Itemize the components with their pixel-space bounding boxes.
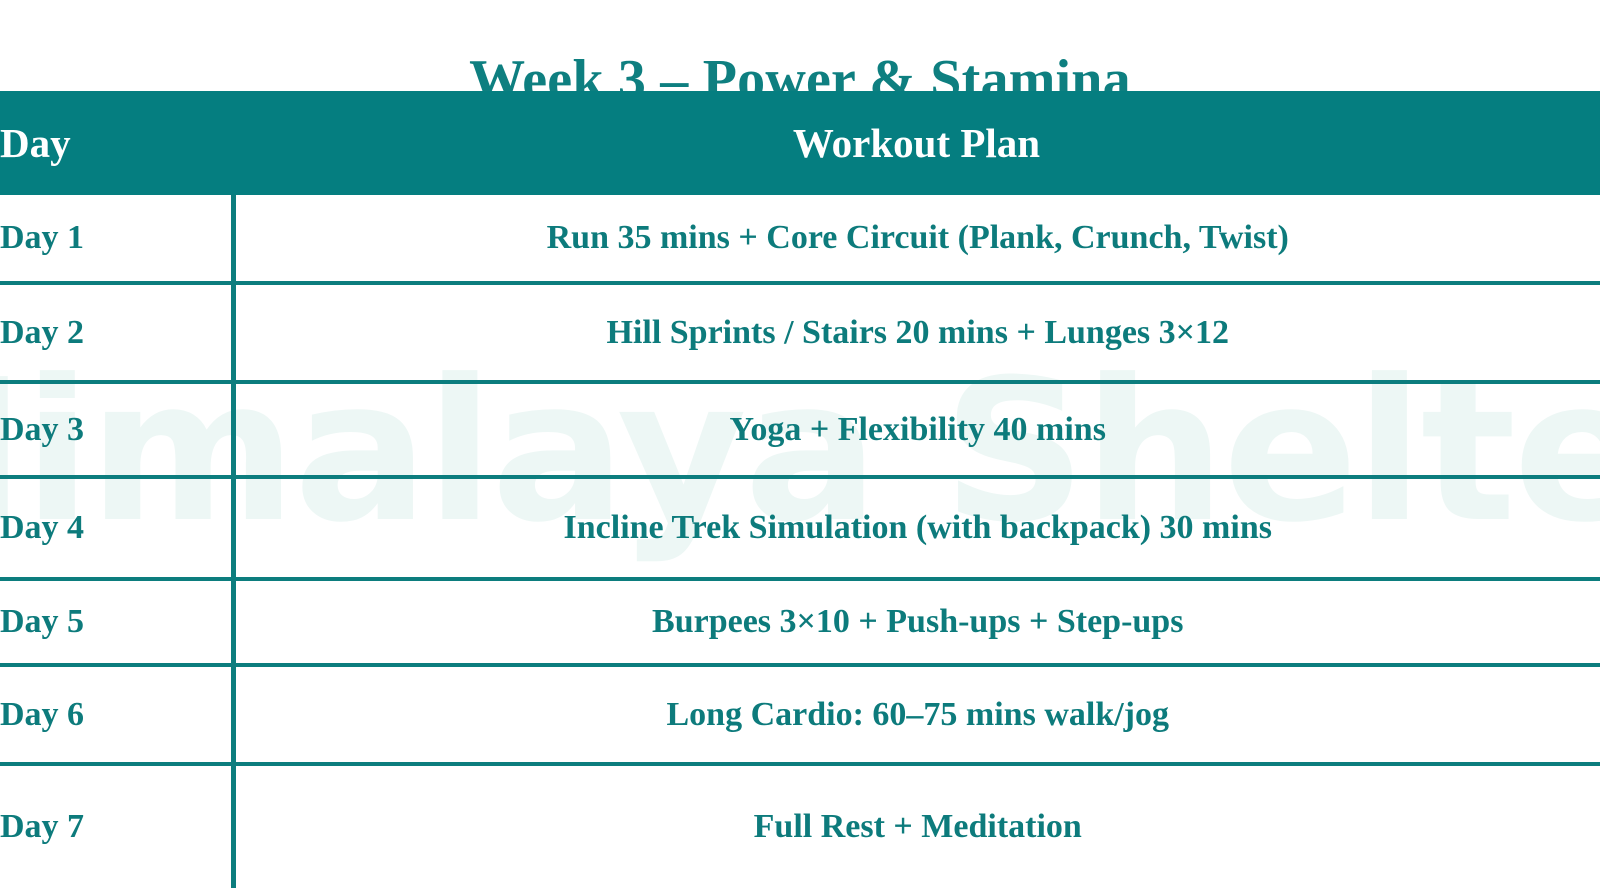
column-header-day: Day	[0, 91, 233, 195]
cell-day: Day 6	[0, 665, 233, 764]
cell-day: Day 5	[0, 579, 233, 665]
table-body: Day 1 Run 35 mins + Core Circuit (Plank,…	[0, 195, 1600, 888]
table-header: Day Workout Plan	[0, 91, 1600, 195]
cell-plan: Run 35 mins + Core Circuit (Plank, Crunc…	[233, 195, 1600, 283]
cell-plan: Hill Sprints / Stairs 20 mins + Lunges 3…	[233, 283, 1600, 382]
table-header-row: Day Workout Plan	[0, 91, 1600, 195]
cell-plan: Incline Trek Simulation (with backpack) …	[233, 477, 1600, 579]
table-row: Day 1 Run 35 mins + Core Circuit (Plank,…	[0, 195, 1600, 283]
cell-plan: Burpees 3×10 + Push-ups + Step-ups	[233, 579, 1600, 665]
table-row: Day 6 Long Cardio: 60–75 mins walk/jog	[0, 665, 1600, 764]
column-header-workout-plan: Workout Plan	[233, 91, 1600, 195]
workout-schedule-table: Day Workout Plan Day 1 Run 35 mins + Cor…	[0, 91, 1600, 888]
table-row: Day 4 Incline Trek Simulation (with back…	[0, 477, 1600, 579]
cell-plan: Long Cardio: 60–75 mins walk/jog	[233, 665, 1600, 764]
workout-plan-page: Week 3 – Power & Stamina Day Workout Pla…	[0, 0, 1600, 864]
cell-day: Day 4	[0, 477, 233, 579]
cell-plan: Full Rest + Meditation	[233, 764, 1600, 888]
cell-plan: Yoga + Flexibility 40 mins	[233, 382, 1600, 477]
table-row: Day 2 Hill Sprints / Stairs 20 mins + Lu…	[0, 283, 1600, 382]
cell-day: Day 2	[0, 283, 233, 382]
cell-day: Day 1	[0, 195, 233, 283]
cell-day: Day 7	[0, 764, 233, 888]
table-row: Day 5 Burpees 3×10 + Push-ups + Step-ups	[0, 579, 1600, 665]
table-row: Day 7 Full Rest + Meditation	[0, 764, 1600, 888]
table-row: Day 3 Yoga + Flexibility 40 mins	[0, 382, 1600, 477]
cell-day: Day 3	[0, 382, 233, 477]
